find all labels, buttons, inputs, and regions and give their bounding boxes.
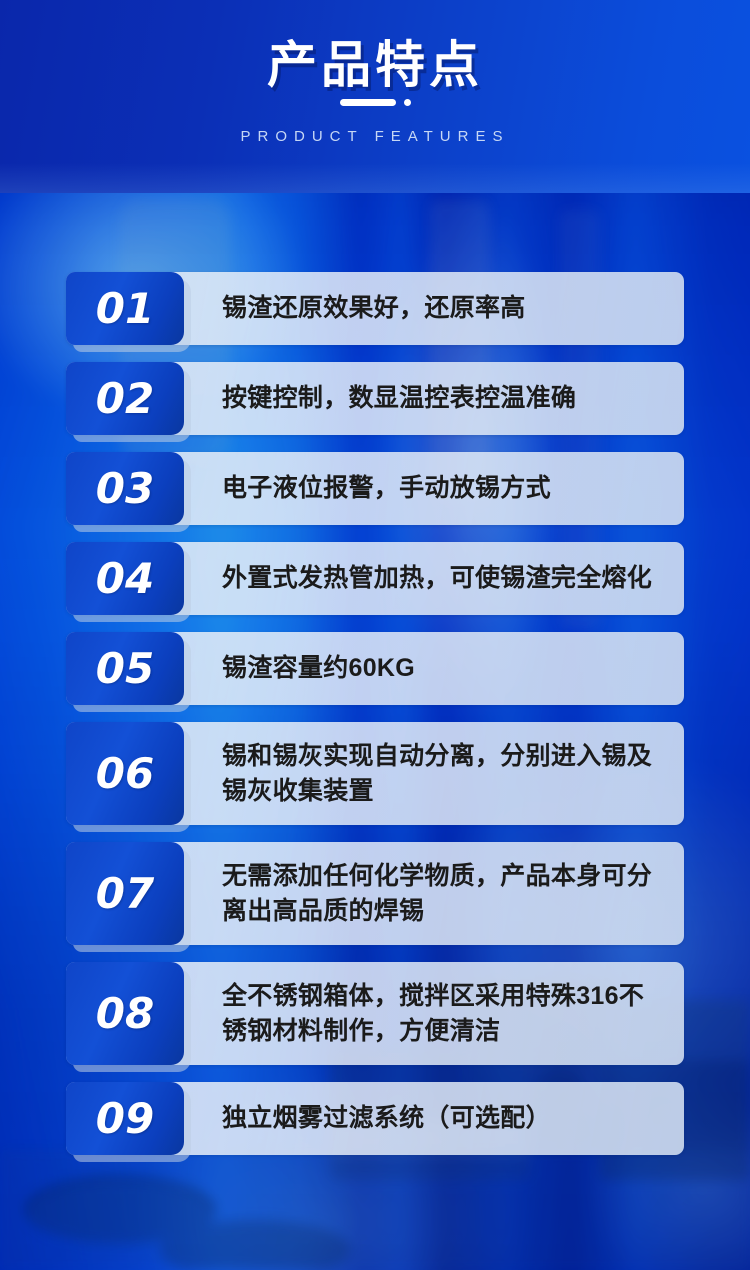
feature-number-badge: 08 [66,962,184,1065]
divider-bar-icon [340,99,396,106]
feature-text: 锡和锡灰实现自动分离，分别进入锡及锡灰收集装置 [184,722,684,825]
feature-text: 独立烟雾过滤系统（可选配） [184,1082,684,1155]
feature-list: 01 锡渣还原效果好，还原率高 02 按键控制，数显温控表控温准确 03 电子液… [66,272,684,1172]
feature-number: 09 [96,1098,154,1140]
feature-number: 04 [96,558,154,600]
feature-row-09: 09 独立烟雾过滤系统（可选配） [66,1082,684,1155]
header-band: 产品特点 PRODUCT FEATURES [0,0,750,193]
feature-text: 锡渣还原效果好，还原率高 [184,272,684,345]
feature-number: 02 [96,378,154,420]
feature-number-badge: 06 [66,722,184,825]
feature-number: 07 [96,873,154,915]
feature-text: 电子液位报警，手动放锡方式 [184,452,684,525]
feature-row-05: 05 锡渣容量约60KG [66,632,684,705]
feature-row-03: 03 电子液位报警，手动放锡方式 [66,452,684,525]
feature-number-badge: 01 [66,272,184,345]
feature-text: 全不锈钢箱体，搅拌区采用特殊316不锈钢材料制作，方便清洁 [184,962,684,1065]
feature-number-badge: 04 [66,542,184,615]
feature-number-badge: 07 [66,842,184,945]
feature-number: 08 [96,993,154,1035]
product-features-page: 产品特点 PRODUCT FEATURES 01 锡渣还原效果好，还原率高 02… [0,0,750,1270]
page-title: 产品特点 [0,25,750,97]
feature-row-07: 07 无需添加任何化学物质，产品本身可分离出高品质的焊锡 [66,842,684,945]
feature-text: 按键控制，数显温控表控温准确 [184,362,684,435]
feature-number: 03 [96,468,154,510]
feature-number-badge: 05 [66,632,184,705]
page-subtitle: PRODUCT FEATURES [0,128,750,145]
feature-text: 无需添加任何化学物质，产品本身可分离出高品质的焊锡 [184,842,684,945]
feature-number-badge: 09 [66,1082,184,1155]
feature-number-badge: 02 [66,362,184,435]
divider-dot-icon [404,99,411,106]
feature-row-01: 01 锡渣还原效果好，还原率高 [66,272,684,345]
feature-number: 06 [96,753,154,795]
feature-number: 01 [96,288,154,330]
feature-number: 05 [96,648,154,690]
feature-number-badge: 03 [66,452,184,525]
feature-text: 外置式发热管加热，可使锡渣完全熔化 [184,542,684,615]
feature-row-02: 02 按键控制，数显温控表控温准确 [66,362,684,435]
feature-row-06: 06 锡和锡灰实现自动分离，分别进入锡及锡灰收集装置 [66,722,684,825]
title-divider [0,96,750,108]
feature-row-04: 04 外置式发热管加热，可使锡渣完全熔化 [66,542,684,615]
feature-row-08: 08 全不锈钢箱体，搅拌区采用特殊316不锈钢材料制作，方便清洁 [66,962,684,1065]
feature-text: 锡渣容量约60KG [184,632,684,705]
